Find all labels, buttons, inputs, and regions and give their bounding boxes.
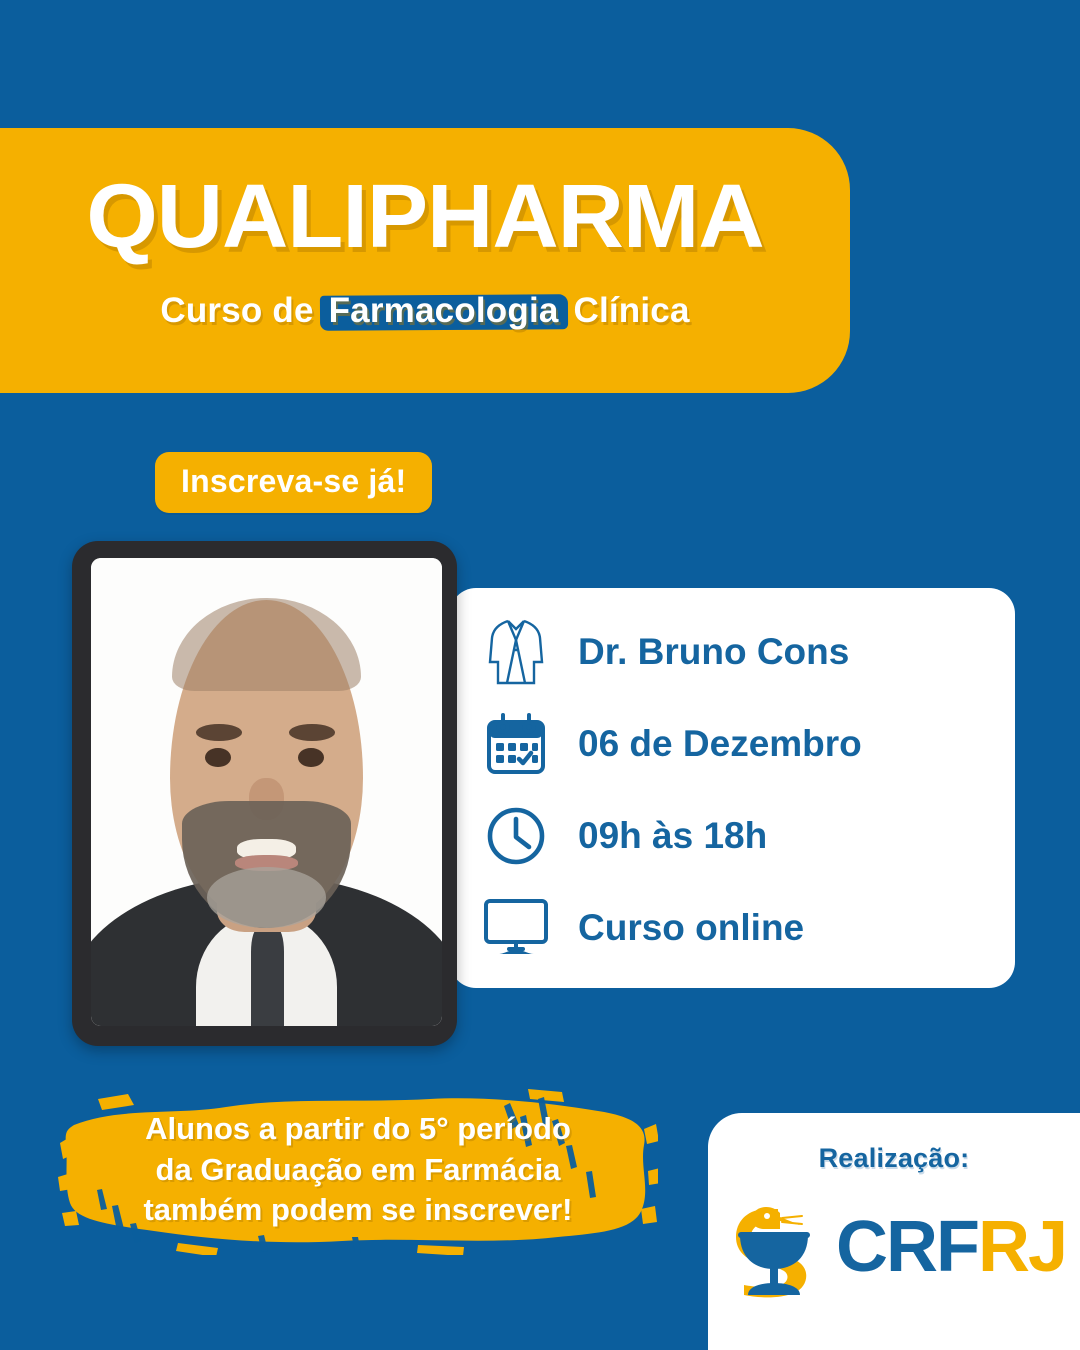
poster-canvas: QUALIPHARMA Curso de Farmacologia Clínic…	[0, 0, 1080, 1350]
brand-crf: CRF	[836, 1211, 978, 1283]
subtitle: Curso de Farmacologia Clínica	[0, 291, 850, 331]
sponsor-logo-card: Realização:	[708, 1113, 1080, 1350]
page-title: QUALIPHARMA	[0, 172, 859, 262]
clock-icon	[480, 804, 552, 868]
monitor-icon	[480, 898, 552, 958]
eligibility-brush-banner: Alunos a partir do 5° período da Graduaç…	[58, 1085, 658, 1255]
portrait-tie	[251, 928, 284, 1026]
info-row-speaker: Dr. Bruno Cons	[480, 609, 1001, 695]
event-info-card: Dr. Bruno Cons	[450, 588, 1015, 988]
realizacao-label: Realização:	[708, 1143, 1080, 1174]
brand-rj: RJ	[978, 1211, 1066, 1283]
info-text-date: 06 de Dezembro	[578, 723, 862, 765]
eligibility-text: Alunos a partir do 5° período da Graduaç…	[58, 1085, 658, 1255]
info-row-format: Curso online	[480, 885, 1001, 971]
lab-coat-icon	[480, 616, 552, 688]
info-text-format: Curso online	[578, 907, 804, 949]
crfrj-logo: CRFRJ	[708, 1191, 1080, 1303]
info-row-time: 09h às 18h	[480, 793, 1001, 879]
portrait-beard-lower	[207, 867, 326, 928]
tablet-screen	[91, 558, 442, 1026]
eligibility-line-1: Alunos a partir do 5° período	[145, 1110, 571, 1148]
subtitle-highlight: Farmacologia	[324, 291, 564, 331]
crfrj-wordmark: CRFRJ	[836, 1211, 1066, 1283]
eligibility-line-3: também podem se inscrever!	[143, 1191, 572, 1229]
subtitle-suffix: Clínica	[564, 291, 690, 330]
calendar-icon	[480, 711, 552, 777]
event-info-list: Dr. Bruno Cons	[480, 606, 1001, 974]
eligibility-line-2: da Graduação em Farmácia	[156, 1151, 561, 1189]
info-text-speaker: Dr. Bruno Cons	[578, 631, 849, 673]
portrait-brow-right	[289, 724, 335, 741]
info-text-time: 09h às 18h	[578, 815, 767, 857]
header-banner: QUALIPHARMA Curso de Farmacologia Clínic…	[0, 128, 850, 393]
portrait-brow-left	[196, 724, 242, 741]
subtitle-text: Curso de Farmacologia Clínica	[160, 291, 689, 331]
speaker-photo-tablet	[72, 541, 457, 1046]
register-cta-badge[interactable]: Inscreva-se já!	[155, 452, 432, 513]
speaker-portrait-image	[91, 558, 442, 1026]
portrait-hair	[172, 598, 362, 692]
bowl-of-hygieia-icon	[722, 1191, 834, 1303]
info-row-date: 06 de Dezembro	[480, 701, 1001, 787]
subtitle-prefix: Curso de	[160, 291, 323, 330]
